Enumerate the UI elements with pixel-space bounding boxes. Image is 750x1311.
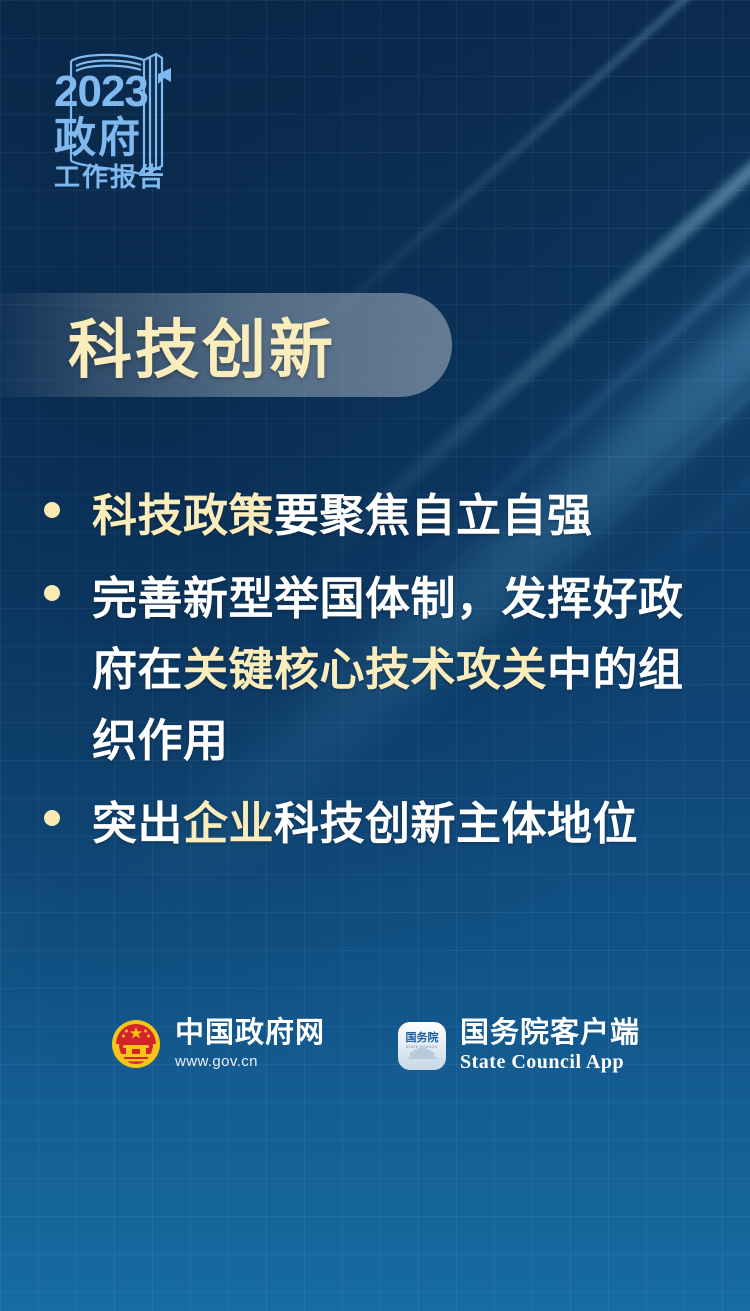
list-item: 科技政策要聚焦自立自强 [44,480,716,551]
bullet-list: 科技政策要聚焦自立自强 完善新型举国体制，发挥好政府在关键核心技术攻关中的组织作… [44,480,716,871]
brand-name-cn: 中国政府网 [175,1018,325,1049]
list-item: 突出企业科技创新主体地位 [44,788,716,859]
logo-ribbon [158,68,171,84]
footer-brands: 中国政府网 www.gov.cn 国务院 STATE COUNCIL [0,1018,750,1074]
plain-phrase: 突出 [92,798,183,849]
highlight-phrase: 关键核心技术攻关 [183,644,547,695]
national-emblem-icon [110,1018,162,1070]
brand-name-cn: 国务院客户端 [460,1018,640,1049]
app-icon-label: 国务院 [406,1030,439,1044]
brand-text-block: 中国政府网 www.gov.cn [175,1018,325,1069]
brand-text-block: 国务院客户端 State Council App [460,1018,640,1074]
logo-year: 2023 [54,67,148,116]
poster-root: 2023 政府 工作报告 科技创新 科技政策要聚焦自立自强 完善新型举国体制，发… [0,0,750,1311]
state-council-app-icon: 国务院 STATE COUNCIL [397,1021,447,1071]
bullet-dot-icon [44,502,60,518]
bullet-dot-icon [44,585,60,601]
report-logo: 2023 政府 工作报告 [38,34,188,194]
plain-phrase: 科技创新主体地位 [274,798,638,849]
logo-line2: 工作报告 [54,162,166,192]
list-item-text: 突出企业科技创新主体地位 [92,788,716,859]
brand-gov-cn[interactable]: 中国政府网 www.gov.cn [110,1018,325,1070]
list-item-text: 完善新型举国体制，发挥好政府在关键核心技术攻关中的组织作用 [92,563,716,776]
list-item-text: 科技政策要聚焦自立自强 [92,480,716,551]
page-title: 科技创新 [68,293,336,397]
list-item: 完善新型举国体制，发挥好政府在关键核心技术攻关中的组织作用 [44,563,716,776]
highlight-phrase: 科技政策 [92,490,274,541]
plain-phrase: 要聚焦自立自强 [274,490,593,541]
brand-state-council-app[interactable]: 国务院 STATE COUNCIL 国务院客户端 State Council A… [397,1018,640,1074]
bullet-dot-icon [44,810,60,826]
highlight-phrase: 企业 [183,798,274,849]
brand-name-en: State Council App [460,1051,640,1074]
brand-url: www.gov.cn [175,1053,325,1070]
logo-line1: 政府 [54,114,142,161]
